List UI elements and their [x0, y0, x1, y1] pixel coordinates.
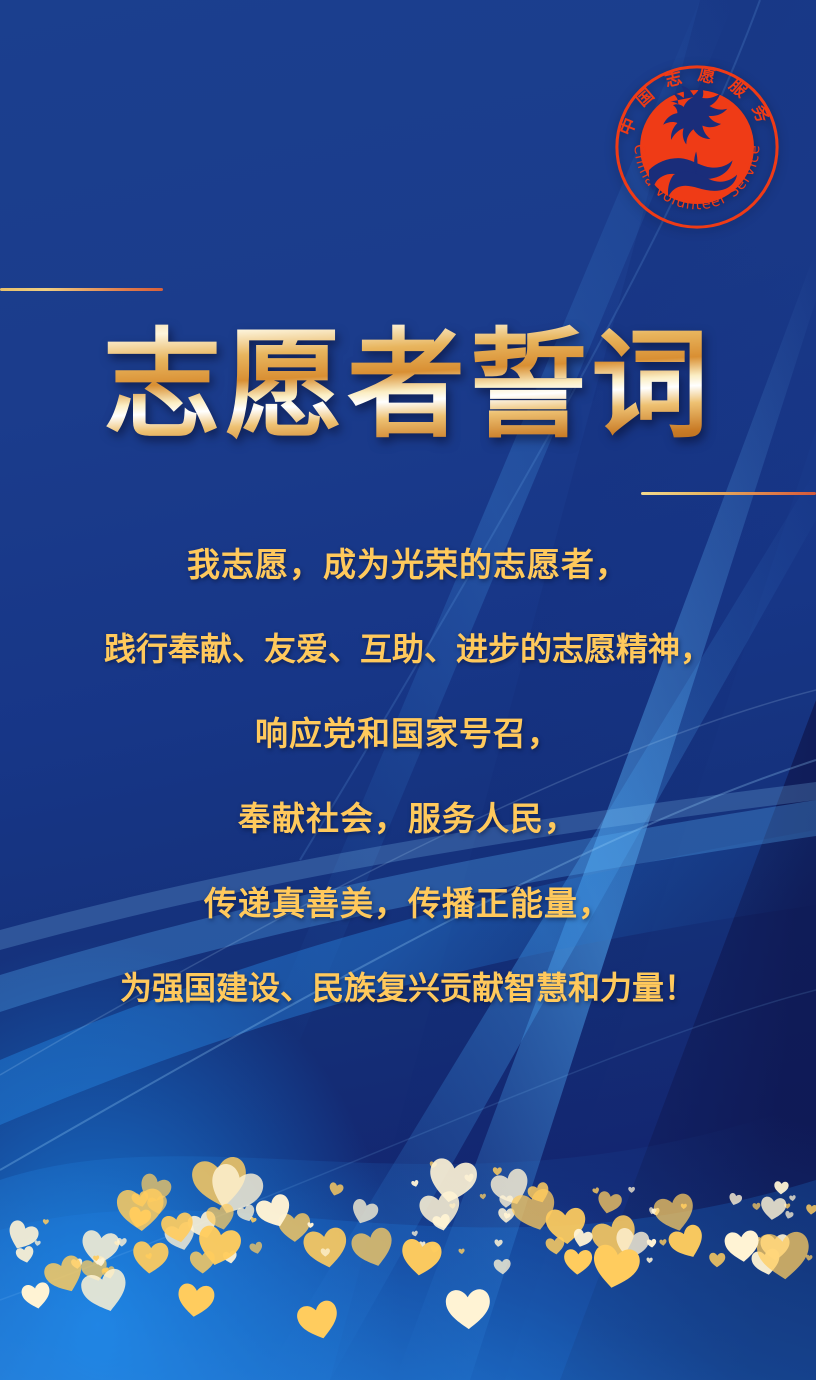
heart-icon	[176, 1283, 216, 1319]
heart-icon	[445, 1289, 490, 1330]
page-title-text: 志愿者誓词	[95, 322, 721, 459]
heart-icon	[411, 1230, 418, 1237]
heart-icon	[295, 1299, 343, 1344]
oath-line-4: 奉献社会，服务人民，	[0, 802, 816, 835]
heart-icon	[493, 1167, 502, 1175]
heart-icon	[628, 1187, 635, 1193]
heart-icon	[43, 1219, 49, 1225]
heart-icon	[709, 1253, 725, 1268]
heart-icon	[458, 1248, 465, 1254]
heart-icon	[592, 1187, 600, 1195]
oath-line-3: 响应党和国家号召，	[0, 717, 816, 750]
heart-icon	[774, 1181, 789, 1195]
heart-icon	[563, 1249, 592, 1276]
heart-icon	[545, 1237, 566, 1256]
heart-icon	[595, 1190, 623, 1216]
heart-icon	[806, 1204, 816, 1215]
oath-line-5: 传递真善美，传播正能量，	[0, 887, 816, 920]
page-title: 志愿者誓词	[0, 322, 816, 459]
heart-icon	[784, 1210, 794, 1220]
heart-icon	[494, 1239, 503, 1247]
heart-icon	[349, 1226, 398, 1272]
oath-body: 我志愿，成为光荣的志愿者， 践行奉献、友爱、互助、进步的志愿精神， 响应党和国家…	[0, 548, 816, 1004]
heart-icon	[727, 1192, 743, 1207]
heart-icon	[20, 1281, 52, 1311]
heart-icon	[411, 1180, 420, 1188]
heart-icon	[759, 1196, 787, 1221]
top-accent-rule	[0, 288, 163, 291]
heart-icon	[789, 1195, 796, 1201]
oath-line-6: 为强国建设、民族复兴贡献智慧和力量！	[0, 972, 816, 1004]
heart-icon	[348, 1197, 380, 1228]
bottom-accent-rule	[641, 492, 816, 495]
heart-icon	[327, 1182, 344, 1198]
heart-icon	[249, 1241, 264, 1255]
hearts-decoration	[0, 1148, 816, 1380]
poster-canvas: 中国志愿服务 China Volunteer Service 志愿者誓词 我志愿…	[0, 0, 816, 1380]
heart-icon	[132, 1241, 170, 1275]
heart-icon	[752, 1203, 761, 1211]
heart-icon	[659, 1239, 667, 1246]
oath-line-1: 我志愿，成为光荣的志愿者，	[0, 548, 816, 581]
heart-icon	[666, 1222, 709, 1263]
heart-icon	[646, 1257, 652, 1263]
heart-icon	[34, 1240, 41, 1246]
oath-line-2: 践行奉献、友爱、互助、进步的志愿精神，	[0, 633, 816, 665]
china-volunteer-service-emblem-icon: 中国志愿服务 China Volunteer Service	[608, 58, 786, 236]
heart-icon	[480, 1194, 487, 1200]
heart-icon	[302, 1226, 351, 1271]
heart-icon	[493, 1259, 511, 1275]
